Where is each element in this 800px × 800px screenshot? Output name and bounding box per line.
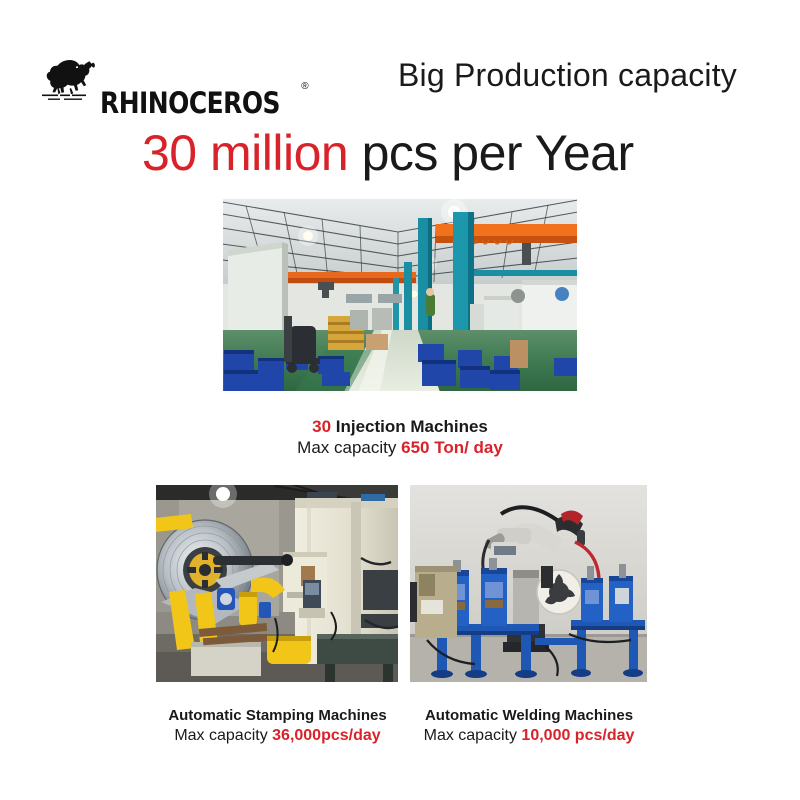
injection-machine-label: Injection Machines [331,417,488,436]
brand-wordmark: RHINOCEROS ® [100,75,317,104]
rhinoceros-icon [38,56,100,104]
capacity-unit: pcs per Year [348,125,633,181]
caption-stamping-line2: Max capacity 36,000pcs/day [145,725,410,746]
caption-injection-line1: 30 Injection Machines [200,416,600,437]
caption-injection: 30 Injection Machines Max capacity 650 T… [200,416,600,459]
caption-welding-line2: Max capacity 10,000 pcs/day [400,725,658,746]
caption-stamping-line1: Automatic Stamping Machines [145,706,410,725]
injection-capacity-prefix: Max capacity [297,438,401,457]
injection-machine-count: 30 [312,417,331,436]
caption-stamping: Automatic Stamping Machines Max capacity… [145,706,410,746]
stamping-capacity-prefix: Max capacity [174,727,272,744]
photo-injection-machines [222,198,578,392]
caption-welding-line1: Automatic Welding Machines [400,706,658,725]
brand-name: RHINOCEROS [100,89,280,118]
stamping-capacity-value: 36,000pcs/day [272,727,381,744]
capacity-value: 30 million [142,125,348,181]
caption-injection-line2: Max capacity 650 Ton/ day [200,437,600,459]
capacity-headline: 30 million pcs per Year [142,124,702,182]
registered-mark: ® [301,81,308,92]
photo-stamping-machines [155,484,399,683]
welding-capacity-prefix: Max capacity [424,727,522,744]
photo-welding-machines [409,484,648,683]
brand-logo: RHINOCEROS ® [38,52,317,104]
injection-capacity-value: 650 Ton/ day [401,438,503,457]
welding-capacity-value: 10,000 pcs/day [521,727,634,744]
page-title: Big Production capacity [398,57,768,94]
caption-welding: Automatic Welding Machines Max capacity … [400,706,658,746]
slide-canvas: RHINOCEROS ® Big Production capacity 30 … [0,0,800,800]
